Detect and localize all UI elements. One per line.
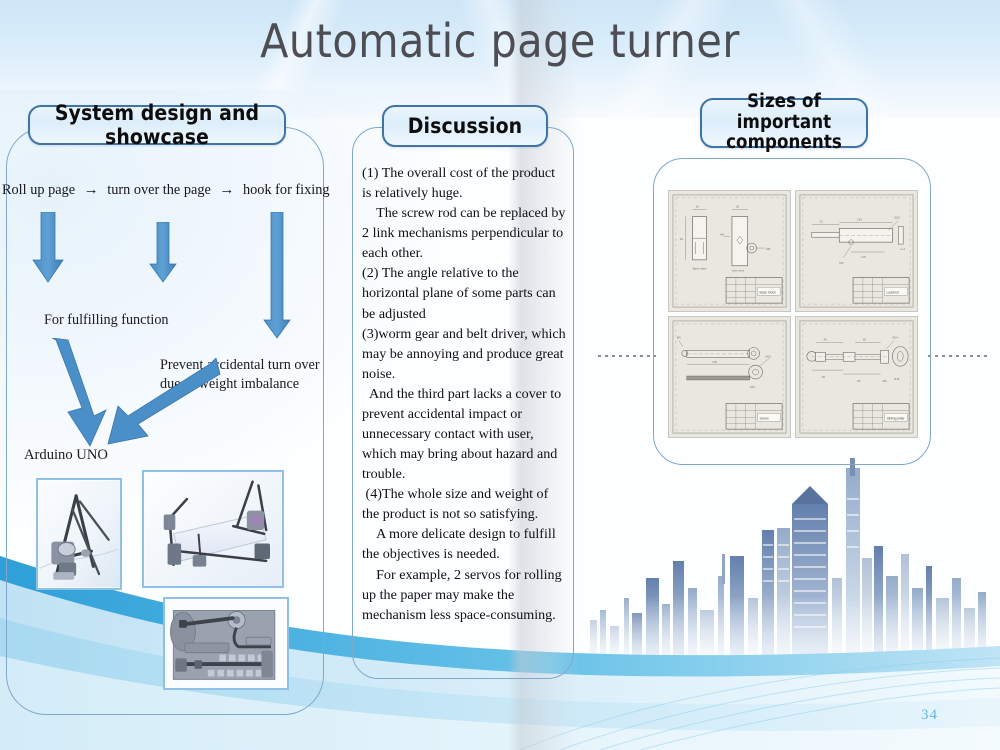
section-header-discussion[interactable]: Discussion (382, 105, 548, 147)
drawing-bracket-plate[interactable]: 1618 64M4Ø8 Base plateside view Base blo… (668, 190, 791, 312)
process-flow-line: Roll up page → turn over the page → hook… (2, 182, 322, 199)
list-item[interactable] (142, 470, 284, 588)
svg-text:28: 28 (822, 375, 826, 379)
svg-text:96: 96 (857, 379, 861, 383)
cad-render-frame-assembly (38, 480, 120, 588)
drawing-title-block-3: Screw (760, 416, 770, 420)
svg-text:Ø8: Ø8 (766, 247, 770, 251)
svg-text:M6: M6 (883, 379, 887, 383)
svg-text:A-A: A-A (900, 247, 905, 251)
drawing-shaft-with-pin[interactable]: 15022 118M5 Ø12A-A Leadrod (795, 190, 918, 312)
drawing-title-block-4: Sliding pillar (887, 416, 906, 420)
svg-text:18: 18 (736, 205, 740, 209)
section-header-system-design[interactable]: System design and showcase (28, 105, 286, 145)
svg-text:64: 64 (680, 237, 684, 241)
diagonal-arrow-right-icon (104, 358, 222, 454)
svg-text:B-B: B-B (894, 377, 899, 381)
svg-text:side view: side view (732, 269, 745, 273)
svg-text:200: 200 (712, 360, 717, 364)
page-title: Automatic page turner (0, 14, 1000, 68)
svg-text:Ø14: Ø14 (892, 336, 898, 340)
flow-step-turn-over: turn over the page (107, 182, 211, 198)
svg-text:M5: M5 (839, 261, 843, 265)
svg-text:150: 150 (857, 218, 862, 222)
flow-arrow-1-icon: → (79, 182, 104, 198)
flow-step-roll-up: Roll up page (2, 182, 75, 198)
svg-text:60: 60 (863, 338, 867, 342)
discussion-body-text: (1) The overall cost of the product is r… (362, 163, 567, 625)
down-arrow-3-icon (262, 212, 292, 340)
drawing-title-block-1: Base block (760, 290, 777, 294)
svg-text:M4: M4 (720, 232, 724, 236)
section-header-sizes[interactable]: Sizes of important components (700, 98, 868, 148)
drawings-grid: 1618 64M4Ø8 Base plateside view Base blo… (668, 190, 918, 438)
sizes-header-line2: components (726, 133, 842, 154)
cad-render-gearbox-screw-drive (165, 599, 287, 688)
svg-text:22: 22 (820, 219, 824, 223)
flow-step-hook: hook for fixing (243, 182, 330, 198)
svg-text:Base plate: Base plate (693, 267, 707, 271)
svg-text:118: 118 (861, 255, 866, 259)
label-for-fulfilling-function: For fulfilling function (44, 311, 169, 330)
svg-text:16: 16 (696, 205, 700, 209)
flow-arrow-2-icon: → (214, 182, 239, 198)
drawing-long-shaft-assembly[interactable]: 4060 2896 M6Ø14 B-B Sliding pillar (795, 316, 918, 438)
dotted-connector-right (928, 355, 988, 357)
list-item[interactable] (36, 478, 122, 590)
dotted-connector-left (598, 355, 656, 357)
svg-text:M10: M10 (765, 354, 771, 358)
cad-render-roller-arm-assembly (144, 472, 282, 586)
sizes-header-line1: Sizes of important (702, 92, 866, 133)
down-arrow-2-icon (148, 222, 178, 284)
down-arrow-1-icon (30, 212, 66, 284)
label-arduino-uno: Arduino UNO (24, 446, 108, 465)
drawing-title-block-2: Leadrod (887, 290, 899, 294)
drawing-screw-rod[interactable]: 200M10 Ø6SR7 Screw (668, 316, 791, 438)
slide-canvas: Automatic page turner System design and … (0, 0, 1000, 750)
svg-text:40: 40 (824, 338, 828, 342)
svg-text:SR7: SR7 (750, 385, 756, 389)
svg-text:Ø6: Ø6 (677, 336, 681, 340)
page-number: 34 (921, 707, 938, 724)
svg-text:Ø12: Ø12 (894, 216, 900, 220)
list-item[interactable] (163, 597, 289, 690)
